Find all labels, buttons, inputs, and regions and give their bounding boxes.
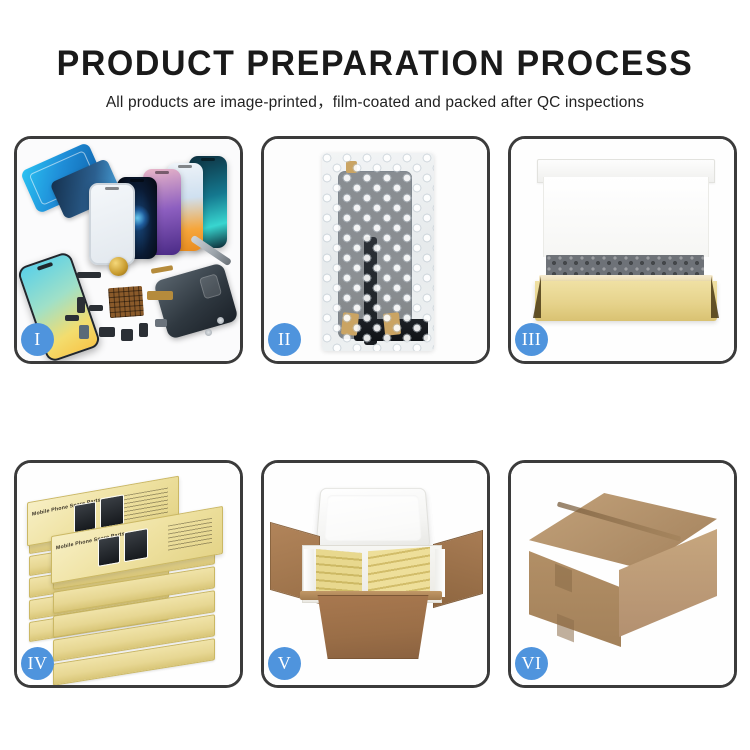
- process-step-panel-1[interactable]: I: [14, 136, 243, 364]
- yellow-box-front-icon: [535, 281, 717, 321]
- step-1-image: [17, 139, 240, 361]
- component-icon: [139, 323, 148, 337]
- component-icon: [147, 291, 173, 300]
- component-icon: [65, 315, 79, 321]
- process-step-panel-2[interactable]: II: [261, 136, 490, 364]
- component-icon: [99, 327, 115, 337]
- process-step-panel-6[interactable]: VI: [508, 460, 737, 688]
- screw-tray-icon: [108, 286, 144, 318]
- carton-front-icon: [310, 595, 436, 659]
- bubble-texture: [322, 153, 434, 351]
- step-3-image: [511, 139, 734, 361]
- screw-icon: [217, 317, 224, 324]
- bubble-wrap-package: [322, 153, 434, 351]
- process-step-grid: I II: [14, 136, 736, 688]
- process-step-panel-3[interactable]: III: [508, 136, 737, 364]
- process-step-panel-4[interactable]: Mobile Phone Spare Parts Mobile Phone Sp…: [14, 460, 243, 688]
- speaker-component-icon: [109, 257, 128, 276]
- page-subtitle: All products are image-printed，film-coat…: [0, 84, 750, 113]
- step-4-image: Mobile Phone Spare Parts Mobile Phone Sp…: [17, 463, 240, 685]
- step-badge-4: IV: [21, 647, 54, 680]
- page-header: PRODUCT PREPARATION PROCESS All products…: [0, 0, 750, 113]
- step-5-image: [264, 463, 487, 685]
- step-badge-6: VI: [515, 647, 548, 680]
- step-badge-3: III: [515, 323, 548, 356]
- component-icon: [77, 297, 85, 313]
- component-icon: [155, 319, 167, 327]
- step-2-image: [264, 139, 487, 361]
- step-badge-1: I: [21, 323, 54, 356]
- foam-lid-icon: [315, 488, 430, 549]
- retail-boxes-row-right: [368, 547, 430, 597]
- foam-insert-left-icon: [304, 549, 314, 597]
- component-icon: [79, 325, 89, 339]
- screw-icon: [205, 329, 212, 336]
- step-6-image: [511, 463, 734, 685]
- foam-backing-icon: [543, 177, 709, 257]
- foam-insert-right-icon: [435, 549, 445, 597]
- step-badge-5: V: [268, 647, 301, 680]
- step-badge-2: II: [268, 323, 301, 356]
- process-step-panel-5[interactable]: V: [261, 460, 490, 688]
- retail-box-stack: Mobile Phone Spare Parts Mobile Phone Sp…: [17, 463, 240, 685]
- component-icon: [89, 305, 103, 311]
- page-title: PRODUCT PREPARATION PROCESS: [11, 0, 739, 84]
- component-icon: [121, 329, 133, 341]
- component-icon: [77, 272, 101, 278]
